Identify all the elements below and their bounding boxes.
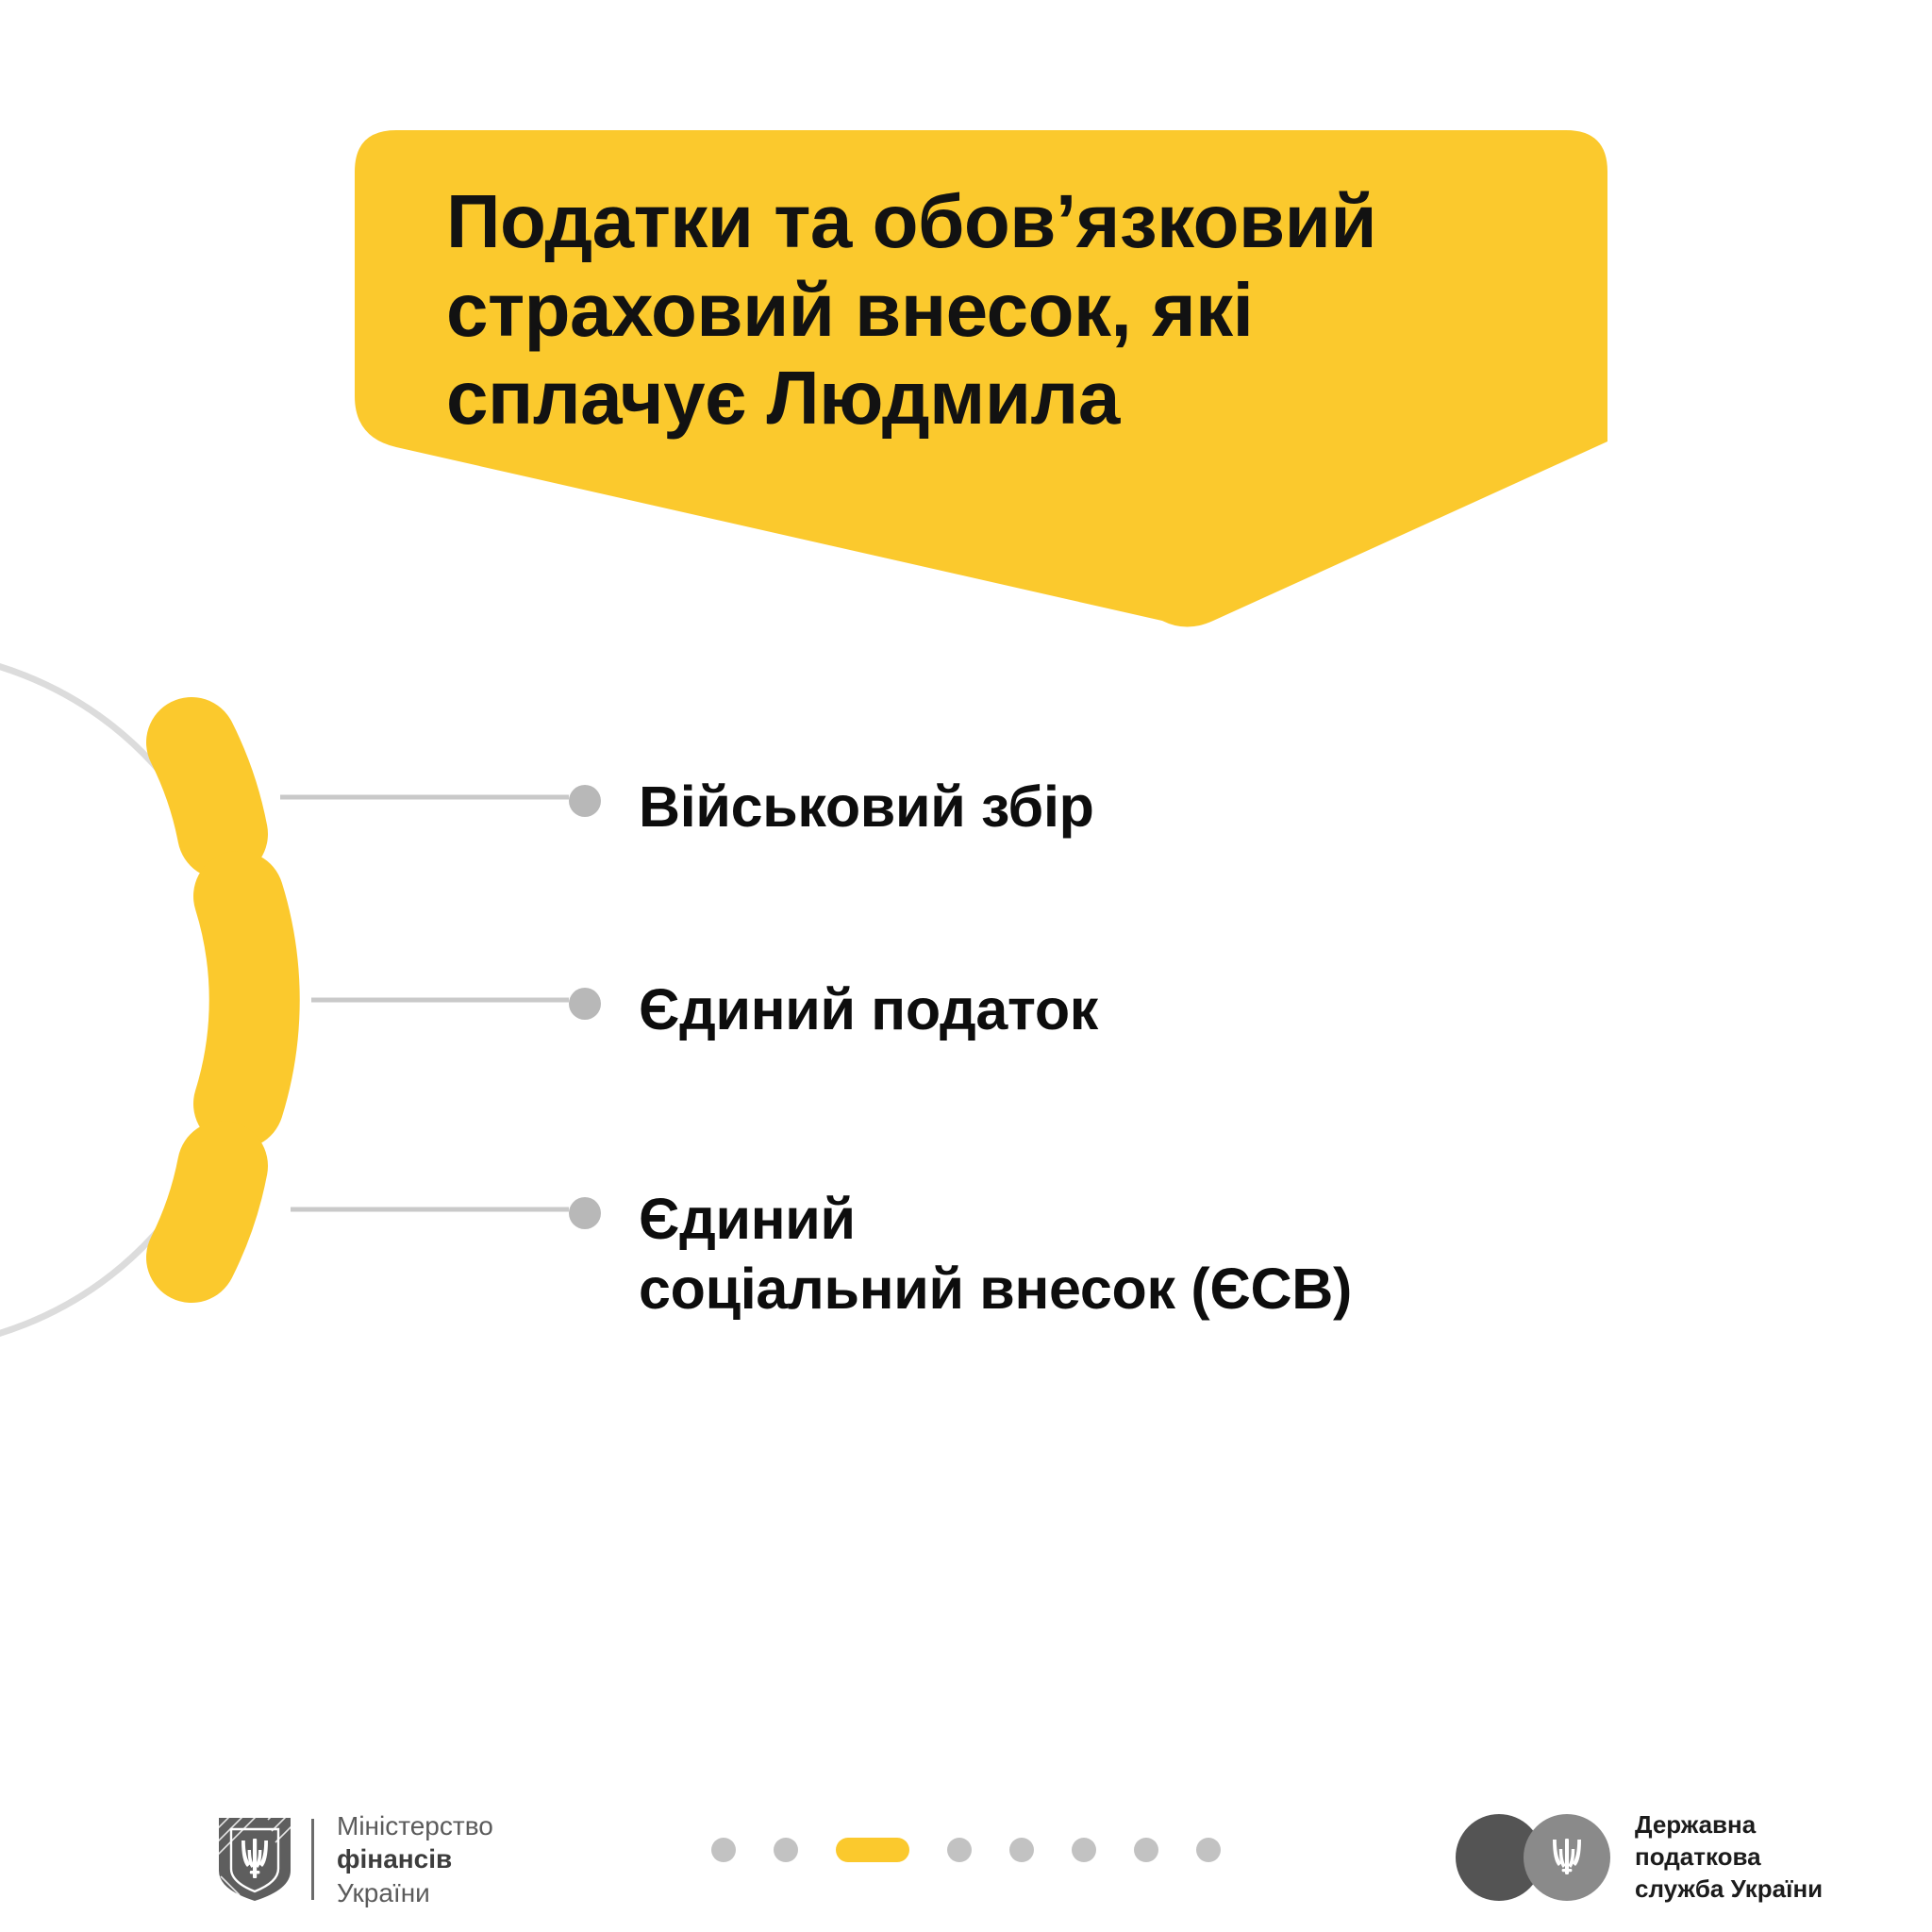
tax-service-line-1: Державна (1635, 1809, 1823, 1841)
pagination-dot-2[interactable] (774, 1838, 798, 1862)
list-item[interactable]: Єдиний соціальний внесок (ЄСВ) (569, 1184, 1352, 1324)
bullet-dot-icon (569, 785, 601, 817)
list-item-label: Військовий збір (639, 772, 1094, 841)
pagination-dot-6[interactable] (1072, 1838, 1096, 1862)
list-item[interactable]: Єдиний податок (569, 974, 1098, 1044)
pagination-dot-3-active[interactable] (836, 1838, 909, 1862)
list-item-label: Єдиний податок (639, 974, 1098, 1044)
pagination-dot-1[interactable] (711, 1838, 736, 1862)
pagination-dot-8[interactable] (1196, 1838, 1221, 1862)
ministry-line-3: України (337, 1876, 493, 1909)
list-item[interactable]: Військовий збір (569, 772, 1094, 841)
pagination[interactable] (0, 1838, 1932, 1862)
pagination-dot-7[interactable] (1134, 1838, 1158, 1862)
bullet-dot-icon (569, 988, 601, 1020)
infographic-slide: Податки та обов’язковий страховий внесок… (0, 0, 1932, 1932)
bullet-dot-icon (569, 1197, 601, 1229)
tax-list: Військовий збір Єдиний податок Єдиний со… (0, 0, 1932, 1932)
pagination-dot-4[interactable] (947, 1838, 972, 1862)
pagination-dot-5[interactable] (1009, 1838, 1034, 1862)
list-item-label: Єдиний соціальний внесок (ЄСВ) (639, 1184, 1352, 1324)
tax-service-line-3: служба України (1635, 1874, 1823, 1906)
